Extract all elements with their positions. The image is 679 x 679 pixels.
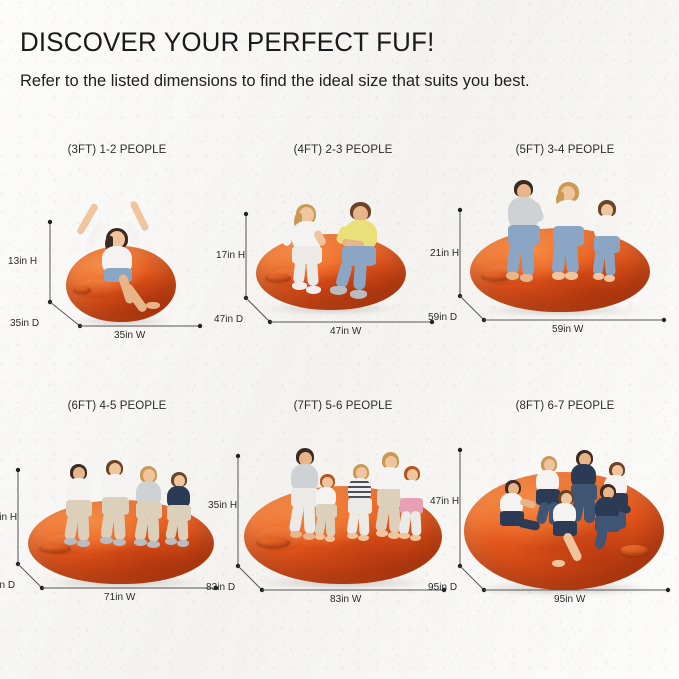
size-card-caption: (5FT) 3-4 PEOPLE [452,144,678,156]
size-chart-infographic: DISCOVER YOUR PERFECT FUF! Refer to the … [0,0,679,679]
width-label: 71in W [104,592,135,603]
page-subtitle: Refer to the listed dimensions to find t… [20,69,549,93]
size-card-8ft[interactable]: (8FT) 6-7 PEOPLE [452,394,678,644]
product-illustration-4ft: 17in H 47in D 47in W [230,162,456,388]
product-illustration-5ft: 21in H 59in D 59in W [452,162,678,388]
width-label: 35in W [114,330,145,341]
person-figure [334,202,396,314]
beanbag-handle [256,537,290,548]
depth-label: 35in D [10,318,39,329]
size-row-1: (3FT) 1-2 PEOPLE [0,138,679,388]
size-card-caption: (6FT) 4-5 PEOPLE [4,400,230,412]
person-figure [312,474,348,566]
person-figure [586,200,634,300]
size-card-caption: (4FT) 2-3 PEOPLE [230,144,456,156]
person-figure [590,484,634,578]
size-grid: (3FT) 1-2 PEOPLE [0,138,679,644]
size-card-4ft[interactable]: (4FT) 2-3 PEOPLE [230,138,456,388]
product-illustration-8ft: 47in H 95in D 95in W [452,418,678,644]
size-card-caption: (7FT) 5-6 PEOPLE [230,400,456,412]
person-figure [396,466,434,566]
header: DISCOVER YOUR PERFECT FUF! Refer to the … [20,28,620,93]
depth-label: 71in D [0,580,15,591]
product-illustration-3ft: 13in H 35in D 35in W [4,162,230,388]
product-illustration-6ft: 26in H 71in D 71in W [4,418,230,644]
width-label: 83in W [330,594,361,605]
size-card-6ft[interactable]: (6FT) 4-5 PEOPLE [4,394,230,644]
person-figure [282,204,338,312]
size-card-3ft[interactable]: (3FT) 1-2 PEOPLE [4,138,230,388]
page-title: DISCOVER YOUR PERFECT FUF! [20,28,596,58]
height-label: 26in H [0,512,17,523]
size-row-2: (6FT) 4-5 PEOPLE [0,394,679,644]
width-label: 47in W [330,326,361,337]
person-figure [548,490,594,586]
size-card-5ft[interactable]: (5FT) 3-4 PEOPLE [452,138,678,388]
size-card-7ft[interactable]: (7FT) 5-6 PEOPLE [230,394,456,644]
height-label: 13in H [8,256,37,267]
person-figure [82,190,168,298]
width-label: 59in W [552,324,583,335]
size-card-caption: (3FT) 1-2 PEOPLE [4,144,230,156]
size-card-caption: (8FT) 6-7 PEOPLE [452,400,678,412]
person-figure [162,472,206,568]
product-illustration-7ft: 35in H 83in D 83in W [230,418,456,644]
